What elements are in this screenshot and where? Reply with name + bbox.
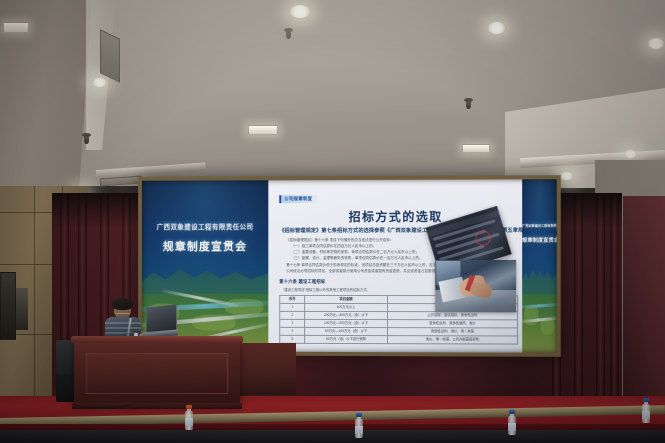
ceiling-troffer-light xyxy=(3,22,29,33)
table-cell: 100万元—200万元（含）以下 xyxy=(305,319,388,327)
eyeglasses-icon xyxy=(115,308,130,314)
downlight-icon xyxy=(648,38,664,49)
sprinkler-head-icon xyxy=(84,135,89,144)
downlight-icon xyxy=(92,78,107,87)
table-cell: 50万元—100万元（含）以下 xyxy=(305,327,388,335)
table-row: 5 50万元（含）以下自行采购 询价、单一来源、公司内部直接采购 xyxy=(280,335,518,344)
ceiling-air-vent xyxy=(100,29,120,83)
table-cell: 公开招标、邀请招标、竞争性谈判 xyxy=(388,311,518,319)
podium-front-panel xyxy=(86,353,228,394)
sprinkler-head-icon xyxy=(466,100,471,109)
table-cell: 200万元—400万元（含）以下 xyxy=(305,311,388,319)
water-bottle xyxy=(508,410,516,435)
downlight-icon xyxy=(624,150,637,158)
led-display-wall[interactable]: 广西双象建设工程有限责任公司 规章制度宣贯会 公司规章制度 招标方式的选取 《招… xyxy=(142,179,557,353)
presentation-slide[interactable]: 公司规章制度 招标方式的选取 《招标管理规定》第七条招标方式的选择参照《广西双象… xyxy=(268,179,522,352)
banner-event-title: 规章制度宣贯会 xyxy=(522,236,557,243)
water-bottle xyxy=(185,405,193,430)
front-row-seating xyxy=(0,430,665,443)
table-cell: 4 xyxy=(280,327,305,335)
water-bottle xyxy=(355,413,363,438)
ceiling-troffer-light xyxy=(248,125,278,135)
downlight-icon xyxy=(560,172,573,180)
right-curtain-edge xyxy=(623,196,665,411)
table-header-cell: 项目金额 xyxy=(305,295,388,303)
wall-recess-panel xyxy=(0,272,16,340)
side-desk xyxy=(234,343,296,395)
sprinkler-head-icon xyxy=(286,30,291,39)
table-cell: 3 xyxy=(280,319,305,327)
banner-company-name: 广西双象建设工程有限责任公司 xyxy=(522,223,557,228)
table-cell: 1 xyxy=(280,303,305,311)
table-cell: 50万元（含）以下自行采购 xyxy=(305,336,388,344)
photograph-scene: 广西双象建设工程有限责任公司 规章制度宣贯会 公司规章制度 招标方式的选取 《招… xyxy=(0,0,665,443)
red-seal-icon xyxy=(473,228,494,249)
table-header-cell: 序号 xyxy=(280,295,305,303)
downlight-icon xyxy=(488,22,505,34)
water-bottle xyxy=(642,398,650,423)
banner-event-title: 规章制度宣贯会 xyxy=(142,239,268,255)
presenter-podium xyxy=(74,341,240,404)
business-handshake-photo xyxy=(435,260,516,312)
slide-section-tag: 公司规章制度 xyxy=(279,195,317,203)
ceiling-troffer-light xyxy=(462,144,490,153)
table-cell: 400万元以上 xyxy=(305,303,388,311)
laptop-computer xyxy=(142,306,175,339)
table-cell: 询价、单一来源、公司内部直接采购 xyxy=(388,336,518,345)
podium-top xyxy=(71,336,243,343)
table-cell: 2 xyxy=(280,311,305,319)
led-right-banner: 广西双象建设工程有限责任公司 规章制度宣贯会 xyxy=(522,179,557,353)
downlight-icon xyxy=(290,5,310,18)
banner-company-name: 广西双象建设工程有限责任公司 xyxy=(142,221,268,231)
wall-recess-panel-2 xyxy=(16,288,28,330)
